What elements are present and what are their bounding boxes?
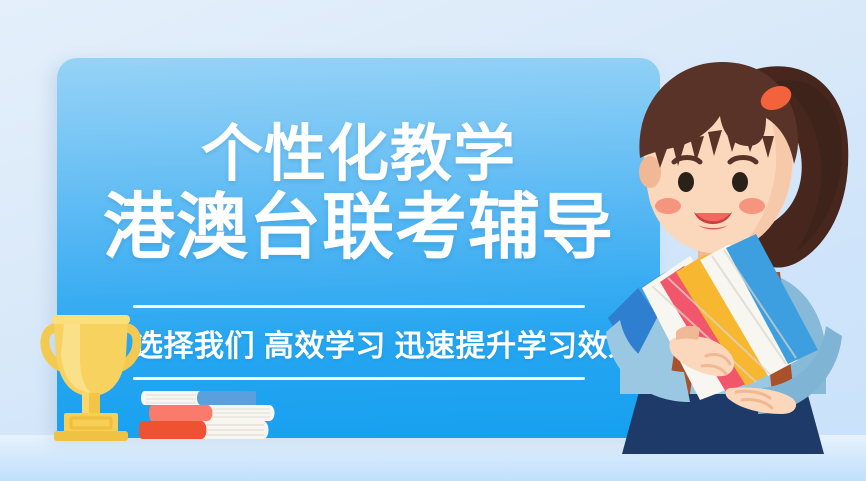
trophy-icon (30, 305, 152, 445)
eye-right (732, 172, 748, 192)
student-girl-illustration (580, 20, 866, 460)
divider-top (133, 305, 585, 308)
list-item (139, 421, 269, 439)
list-item (141, 391, 256, 405)
headline-line-1: 个性化教学 (57, 124, 660, 186)
subtitle-block: 选择我们 高效学习 迅速提升学习效果 (133, 305, 585, 380)
divider-bottom (133, 377, 585, 380)
subtitle-text: 选择我们 高效学习 迅速提升学习效果 (133, 308, 585, 377)
promo-banner: 个性化教学 港澳台联考辅导 选择我们 高效学习 迅速提升学习效果 (0, 0, 866, 481)
headline: 个性化教学 港澳台联考辅导 (57, 124, 660, 264)
list-item (149, 405, 275, 421)
headline-line-2: 港澳台联考辅导 (57, 192, 660, 264)
eye-left (678, 172, 694, 192)
cheek-right (739, 198, 765, 214)
book-stack (136, 385, 286, 447)
cheek-left (655, 198, 681, 214)
